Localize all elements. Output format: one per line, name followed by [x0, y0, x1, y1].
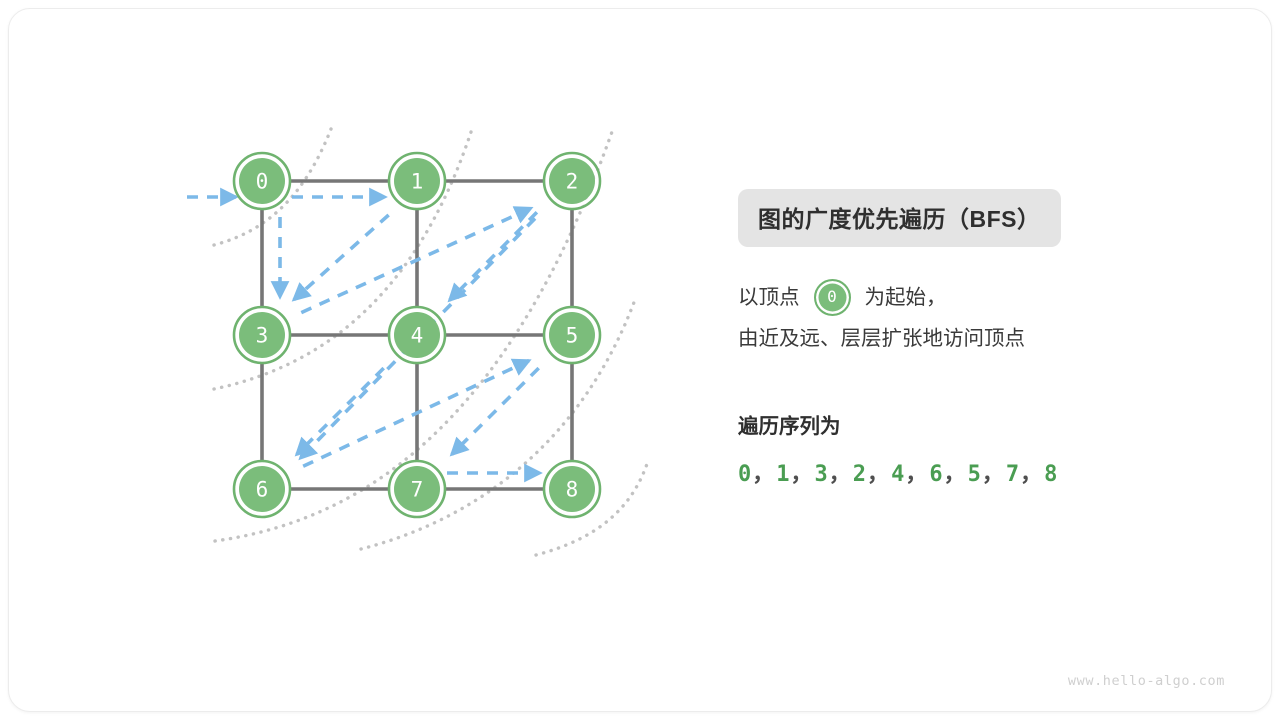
graph-node-8[interactable]: 8 [544, 461, 600, 517]
graph-node-2[interactable]: 2 [544, 153, 600, 209]
graph-node-6[interactable]: 6 [234, 461, 290, 517]
description-prefix: 以顶点 [738, 277, 800, 318]
sequence-item: 5 [968, 462, 981, 487]
node-label: 6 [256, 478, 269, 502]
node-label: 7 [411, 478, 424, 502]
sequence-separator: ， [1020, 462, 1042, 487]
sequence-heading: 遍历序列为 [738, 409, 841, 439]
sequence-separator: ， [752, 462, 774, 487]
sequence-item: 3 [815, 462, 828, 487]
graph-node-7[interactable]: 7 [389, 461, 445, 517]
sequence-item: 6 [929, 462, 942, 487]
node-label: 8 [566, 478, 579, 502]
node-label: 4 [411, 324, 424, 348]
graph-node-5[interactable]: 5 [544, 307, 600, 363]
sequence-separator: ， [829, 462, 851, 487]
sequence-item: 0 [738, 462, 751, 487]
sequence-item: 4 [891, 462, 904, 487]
watermark: www.hello-algo.com [1068, 673, 1225, 689]
sequence-item: 8 [1044, 462, 1057, 487]
panel-title: 图的广度优先遍历（BFS） [738, 189, 1061, 247]
bfs-arrow [294, 215, 389, 300]
node-label: 5 [566, 324, 579, 348]
figure-card: 012345678 图的广度优先遍历（BFS） 以顶点 0 为起始， 由近及远、… [8, 8, 1272, 712]
graph-node-1[interactable]: 1 [389, 153, 445, 209]
sequence-item: 2 [853, 462, 866, 487]
description-line-1: 以顶点 0 为起始， [738, 277, 1218, 318]
sequence-separator: ， [944, 462, 966, 487]
sequence-separator: ， [982, 462, 1004, 487]
bfs-arrow [297, 368, 384, 454]
graph-node-3[interactable]: 3 [234, 307, 290, 363]
info-panel: 图的广度优先遍历（BFS） 以顶点 0 为起始， 由近及远、层层扩张地访问顶点 [738, 189, 1218, 359]
description-suffix: 为起始， [865, 277, 947, 318]
graph-nodes: 012345678 [234, 153, 600, 517]
panel-description: 以顶点 0 为起始， 由近及远、层层扩张地访问顶点 [738, 277, 1218, 359]
description-line-2: 由近及远、层层扩张地访问顶点 [738, 318, 1218, 359]
graph-node-0[interactable]: 0 [234, 153, 290, 209]
node-label: 0 [256, 170, 269, 194]
bfs-graph-figure: 012345678 [9, 9, 1272, 712]
traversal-sequence: 0，1，3，2，4，6，5，7，8 [738, 456, 1057, 488]
node-label: 1 [411, 170, 424, 194]
sequence-item: 1 [776, 462, 789, 487]
bfs-arrow [452, 368, 539, 454]
sequence-item: 7 [1006, 462, 1019, 487]
start-vertex-badge: 0 [814, 279, 851, 316]
node-label: 3 [256, 324, 269, 348]
sequence-separator: ， [905, 462, 927, 487]
sequence-separator: ， [867, 462, 889, 487]
sequence-separator: ， [791, 462, 813, 487]
node-label: 2 [566, 170, 579, 194]
graph-node-4[interactable]: 4 [389, 307, 445, 363]
